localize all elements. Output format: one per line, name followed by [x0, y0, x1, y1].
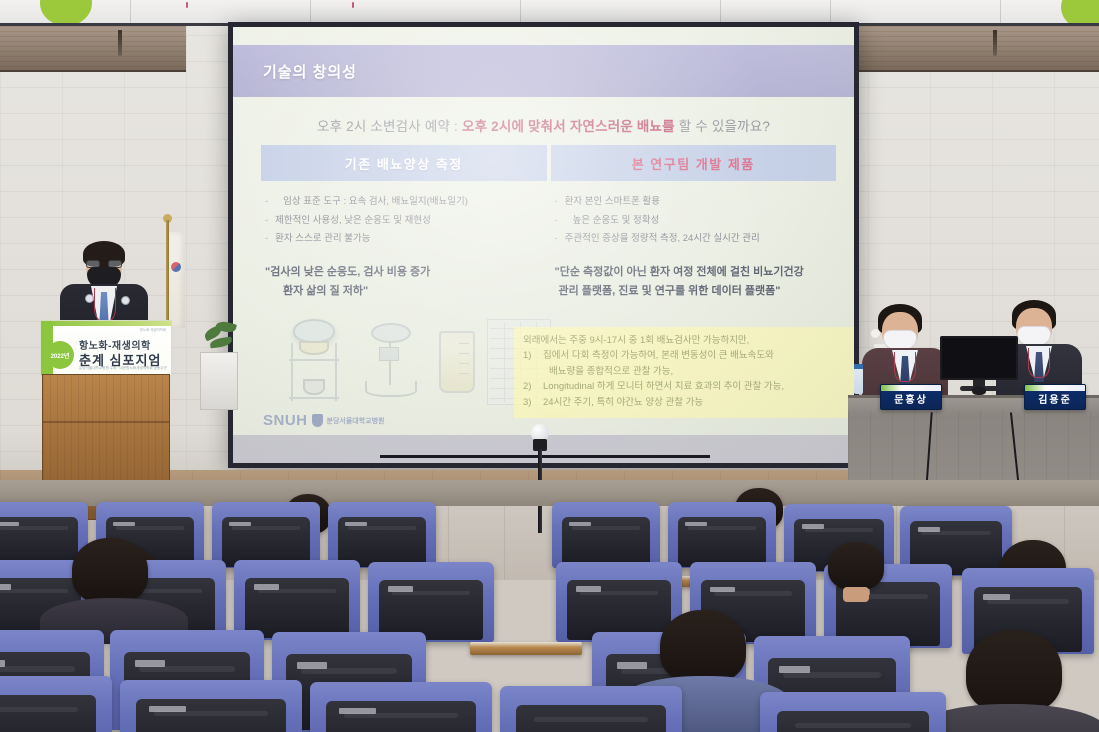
comparison-table: 기존 배뇨양상 측정 -임상 표준 도구 : 요속 검사, 배뇨일지(배뇨일기)…: [261, 145, 836, 301]
banner-corner-text: 항노화·재생의학회: [140, 327, 166, 332]
bullet-text: 제한적인 사용성, 낮은 순응도 및 재현성: [275, 215, 431, 226]
slide-header-bar: 기술의 창의성: [233, 45, 854, 97]
snuh-wordmark: SNUH: [263, 412, 308, 429]
seat: [234, 560, 360, 640]
seat: [328, 502, 436, 568]
callout-intro: 외래에서는 주중 9시-17시 중 1회 배뇨검사만 가능하지만,: [523, 333, 845, 348]
seat: [368, 562, 494, 642]
banner-dot-left: [40, 0, 92, 26]
projection-screen: 기술의 창의성 오후 2시 소변검사 예약 : 오후 2시에 맞춰서 자연스러운…: [228, 22, 859, 468]
quote-new-product: "단순 측정값이 아닌 환자 여정 전체에 걸친 비뇨기건강 관리 플랫폼, 진…: [551, 263, 837, 302]
commode-chair-icon: [283, 319, 345, 403]
slide-title: 기술의 창의성: [263, 61, 357, 82]
nameplate-text: 김용준: [1025, 391, 1085, 409]
banner-green-bar: [41, 321, 172, 326]
nameplate-panelist-1: 문홍상: [880, 384, 942, 410]
planter-box: [200, 352, 238, 410]
lanyard-icon: [894, 352, 916, 382]
callout-item: 1)집에서 다회 측정이 가능하여, 본래 변동성이 큰 배뇨속도와: [523, 348, 845, 363]
quote-line-1: "단순 측정값이 아닌 환자 여정 전체에 걸친 비뇨기건강: [555, 266, 804, 278]
uroflowmetry-device-icon: [361, 323, 425, 399]
snuh-logo: SNUH 분당서울대학교병원: [263, 412, 384, 429]
seat: [552, 502, 660, 568]
table-column-new-product: 본 연구팀 개발 제품 -환자 본인 스마트폰 활용 -높은 순응도 및 정확성…: [551, 145, 837, 301]
presenter-monitor: [940, 336, 1018, 392]
list-item: -제한적인 사용성, 낮은 순응도 및 재현성: [265, 212, 541, 231]
list-item: -임상 표준 도구 : 요속 검사, 배뇨일지(배뇨일기): [265, 193, 541, 212]
quote-line-2: 환자 삶의 질 저하": [265, 282, 543, 301]
flag-cloth: [169, 232, 185, 328]
column-header-existing: 기존 배뇨양상 측정: [261, 145, 547, 181]
podium-area: 2022년 항노화-재생의학 춘계 심포지엄 분당서울대학교병원 주최 · 대한…: [40, 238, 190, 518]
seat: [668, 502, 776, 568]
nameplate-panelist-2: 김용준: [1024, 384, 1086, 410]
bullet-text: 환자 스스로 관리 불가능: [275, 233, 370, 244]
bullet-text: 임상 표준 도구 : 요속 검사, 배뇨일지(배뇨일기): [283, 196, 468, 207]
banner-year-badge: 2022년: [46, 341, 74, 369]
seat: [120, 680, 302, 732]
banner-fine-print: 분당서울대학교병원 주최 · 대한항노화재생의학회 공동주관: [79, 366, 167, 371]
bullet-list-new-product: -환자 본인 스마트폰 활용 -높은 순응도 및 정확성 -주관적인 증상을 정…: [551, 193, 837, 249]
lecture-hall-scene: 기술의 창의성 오후 2시 소변검사 예약 : 오후 2시에 맞춰서 자연스러운…: [0, 0, 1099, 732]
seat: [310, 682, 492, 732]
callout-text: Longitudinal 하게 모니터 하면서 치료 효과의 추이 관찰 가능,: [543, 381, 784, 392]
audience-seating: [0, 480, 1099, 732]
projected-slide: 기술의 창의성 오후 2시 소변검사 예약 : 오후 2시에 맞춰서 자연스러운…: [233, 27, 854, 463]
ceiling-wood-panel-left: [0, 26, 186, 72]
list-item: -환자 스스로 관리 불가능: [265, 230, 541, 249]
callout-number: 2): [523, 379, 543, 394]
seat: [0, 676, 112, 732]
seat: [212, 502, 320, 568]
audience-head: [660, 610, 746, 684]
bullet-text: 주관적인 증상을 정량적 측정, 24시간 실시간 관리: [565, 233, 760, 244]
face-mask-icon: [883, 330, 917, 350]
audience-head: [828, 542, 884, 590]
potted-plant-left: [196, 318, 242, 410]
audience-head: [72, 538, 148, 604]
seat: [500, 686, 682, 732]
quote-line-1: "검사의 낮은 순응도, 검사 비용 증가: [265, 266, 430, 278]
lanyard-icon: [1028, 348, 1050, 378]
urine-measuring-cup-icon: [439, 331, 475, 393]
callout-number: 1): [523, 348, 543, 363]
lapel-badge-right: [121, 296, 130, 305]
yellow-callout-box: 외래에서는 주중 9시-17시 중 1회 배뇨검사만 가능하지만, 1)집에서 …: [514, 327, 854, 418]
quote-existing: "검사의 낮은 순응도, 검사 비용 증가 환자 삶의 질 저하": [261, 263, 547, 302]
panel-table-area: 문홍상 김용준: [848, 300, 1099, 500]
water-bottle: [854, 368, 863, 394]
subtitle-highlight: 오후 2시에 맞춰서 자연스러운 배뇨를: [462, 119, 675, 134]
computer-mouse: [972, 386, 986, 395]
bullet-text: 높은 순응도 및 정확성: [573, 215, 660, 226]
quote-line-2: 관리 플랫폼, 진료 및 연구를 위한 데이터 플랫폼": [555, 282, 833, 301]
lanyard-icon: [94, 288, 116, 322]
table-column-existing: 기존 배뇨양상 측정 -임상 표준 도구 : 요속 검사, 배뇨일지(배뇨일기)…: [261, 145, 547, 301]
lapel-badge-left: [85, 294, 94, 303]
callout-text: 집에서 다회 측정이 가능하여, 본래 변동성이 큰 배뇨속도와: [543, 350, 774, 361]
banner-dot-right: [1061, 0, 1099, 26]
slide-subtitle: 오후 2시 소변검사 예약 : 오후 2시에 맞춰서 자연스러운 배뇨를 할 수…: [233, 115, 854, 135]
bullet-list-existing: -임상 표준 도구 : 요속 검사, 배뇨일지(배뇨일기) -제한적인 사용성,…: [261, 193, 547, 249]
taegeuk-icon: [171, 262, 181, 272]
callout-number: 3): [523, 395, 543, 410]
subtitle-part-2: 할 수 있을까요?: [675, 119, 770, 134]
list-item: -높은 순응도 및 정확성: [555, 212, 831, 231]
column-header-new-product: 본 연구팀 개발 제품: [551, 145, 837, 181]
snuh-korean-name: 분당서울대학교병원: [327, 416, 385, 426]
callout-item: 2)Longitudinal 하게 모니터 하면서 치료 효과의 추이 관찰 가…: [523, 379, 845, 394]
face-mask-icon: [1017, 326, 1051, 346]
shield-icon: [312, 414, 323, 427]
list-item: -환자 본인 스마트폰 활용: [555, 193, 831, 212]
callout-item: 3)24시간 주기, 특히 야간뇨 양상 관찰 가능: [523, 395, 845, 410]
symposium-banner: 2022년 항노화-재생의학 춘계 심포지엄 분당서울대학교병원 주최 · 대한…: [40, 320, 172, 376]
ceiling-wood-panel-right: [855, 26, 1099, 72]
callout-text-cont: 배뇨량을 종합적으로 관찰 가능,: [523, 364, 673, 379]
nameplate-text: 문홍상: [881, 391, 941, 409]
monitor-screen: [940, 336, 1018, 380]
seat: [760, 692, 946, 732]
callout-text: 24시간 주기, 특히 야간뇨 양상 관찰 가능: [543, 397, 703, 408]
list-item: -주관적인 증상을 정량적 측정, 24시간 실시간 관리: [555, 230, 831, 249]
folding-desk: [470, 642, 582, 655]
slide-illustrations: [269, 317, 519, 409]
subtitle-part-1: 오후 2시 소변검사 예약 :: [317, 119, 462, 134]
bullet-text: 환자 본인 스마트폰 활용: [565, 196, 660, 207]
audience-head: [966, 630, 1062, 714]
